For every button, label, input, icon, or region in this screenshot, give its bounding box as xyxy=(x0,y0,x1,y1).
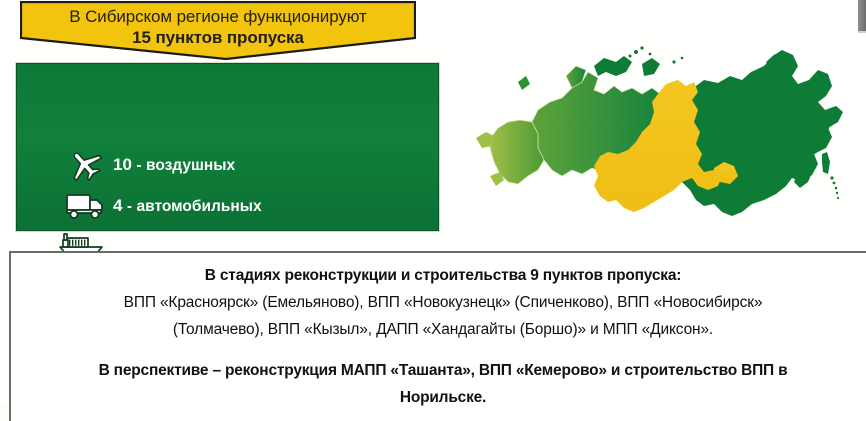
map-region-volga-south xyxy=(476,120,544,186)
headline-line-2: 15 пунктов пропуска xyxy=(20,27,416,48)
scrollbar-thumb[interactable] xyxy=(858,0,866,31)
summary-row-air-text: 10 - воздушных xyxy=(113,155,235,175)
details-footer-line-1: В перспективе – реконструкция МАПП «Таша… xyxy=(37,343,849,384)
details-heading: В стадиях реконструкции и строительства … xyxy=(37,263,849,289)
slide-canvas: 10 - воздушных 4 - а xyxy=(0,0,866,405)
headline-banner-text: В Сибирском регионе функционируют 15 пун… xyxy=(20,1,416,60)
summary-row-road-text: 4 - автомобильных xyxy=(113,196,262,216)
transport-summary-panel: 10 - воздушных 4 - а xyxy=(16,63,439,231)
road-label: автомобильных xyxy=(137,198,262,215)
road-count: 4 xyxy=(113,196,122,215)
details-text-content: В стадиях реконструкции и строительства … xyxy=(11,253,866,411)
air-separator: - xyxy=(136,157,141,174)
details-paragraph-line-2: (Толмачево), ВПП «Кызыл», ДАПП «Хандагай… xyxy=(37,316,849,343)
details-paragraph-line-1: ВПП «Красноярск» (Емельяново), ВПП «Ново… xyxy=(37,289,849,316)
truck-icon xyxy=(59,191,113,221)
air-label: воздушных xyxy=(146,157,235,174)
air-count: 10 xyxy=(113,155,132,174)
summary-row-air: 10 - воздушных xyxy=(59,148,235,182)
airplane-icon xyxy=(59,148,113,182)
road-separator: - xyxy=(127,198,132,215)
russia-federal-districts-map xyxy=(446,36,858,232)
map-svg xyxy=(446,36,858,232)
details-text-box: В стадиях реконструкции и строительства … xyxy=(9,251,866,421)
headline-line-1: В Сибирском регионе функционируют xyxy=(20,1,416,27)
details-footer-line-2: Норильске. xyxy=(37,384,849,411)
scrollbar-track[interactable] xyxy=(858,31,866,33)
summary-row-road: 4 - автомобильных xyxy=(59,191,262,221)
